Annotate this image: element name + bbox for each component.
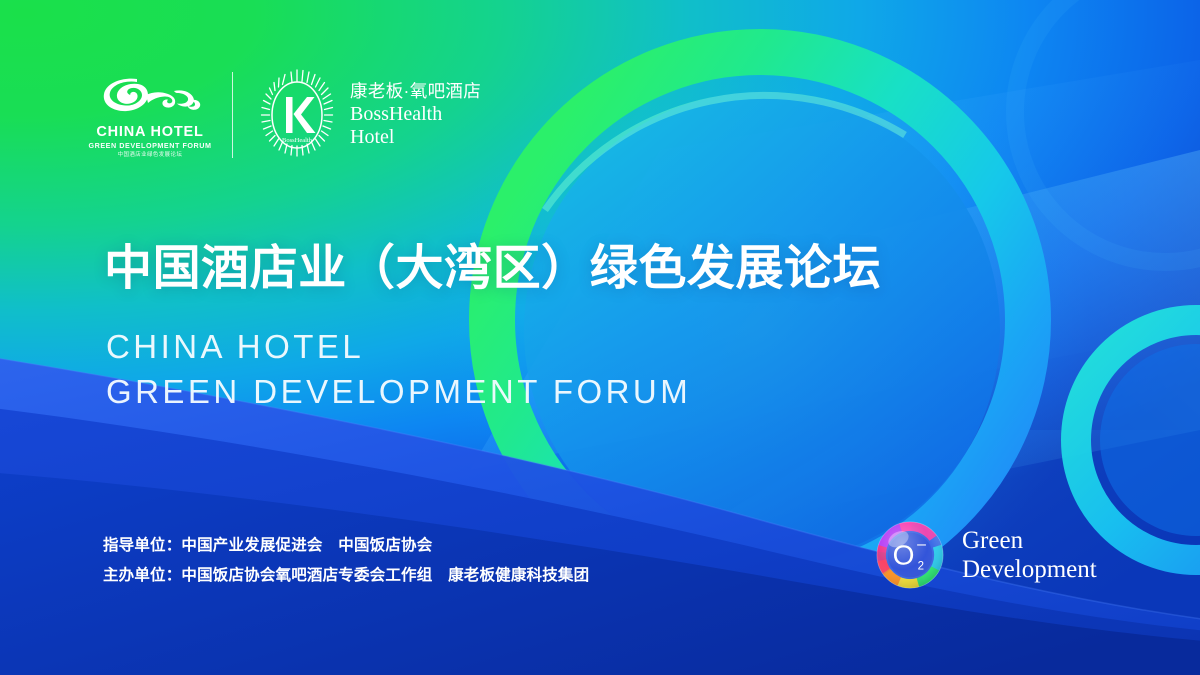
o2-symbol-subscript: 2 bbox=[918, 560, 924, 572]
page-title: 中国酒店业（大湾区）绿色发展论坛 bbox=[104, 243, 881, 295]
china-hotel-en-subtitle: GREEN DEVELOPMENT FORUM bbox=[88, 142, 211, 149]
logo-china-hotel[interactable]: CHINA HOTEL GREEN DEVELOPMENT FORUM 中国酒店… bbox=[96, 72, 204, 159]
page-subtitle-line-1: CHINA HOTEL bbox=[106, 325, 691, 370]
logo-boss-health[interactable]: BossHealth 康老板·氧吧酒店 BossHealth Hotel bbox=[257, 66, 481, 164]
green-development-label-line-2: Development bbox=[962, 555, 1097, 585]
o2-symbol-superscript: – bbox=[917, 536, 926, 553]
logo-divider bbox=[232, 72, 233, 158]
boss-health-en-name-1: BossHealth bbox=[350, 103, 481, 125]
page-subtitle-line-2: GREEN DEVELOPMENT FORUM bbox=[106, 370, 691, 415]
boss-health-cn-name: 康老板·氧吧酒店 bbox=[350, 81, 481, 102]
sunburst-k-monogram-icon: BossHealth bbox=[257, 66, 337, 164]
credits-block: 指导单位：中国产业发展促进会 中国饭店协会 主办单位：中国饭店协会氧吧酒店专委会… bbox=[103, 531, 589, 591]
poster-canvas: CHINA HOTEL GREEN DEVELOPMENT FORUM 中国酒店… bbox=[0, 0, 1200, 675]
ribbon-bed-mark-icon bbox=[98, 72, 202, 122]
green-development-label-line-1: Green bbox=[962, 526, 1097, 556]
o2-symbol-main: O bbox=[893, 539, 915, 570]
logo-row: CHINA HOTEL GREEN DEVELOPMENT FORUM 中国酒店… bbox=[96, 66, 481, 164]
china-hotel-en-name: CHINA HOTEL bbox=[96, 125, 203, 140]
boss-mark-caption: BossHealth bbox=[282, 137, 313, 144]
credit-line-guidance: 指导单位：中国产业发展促进会 中国饭店协会 bbox=[103, 531, 589, 561]
credit-line-organizer: 主办单位：中国饭店协会氧吧酒店专委会工作组 康老板健康科技集团 bbox=[103, 561, 589, 591]
page-subtitle: CHINA HOTEL GREEN DEVELOPMENT FORUM bbox=[106, 325, 691, 415]
green-development-label: Green Development bbox=[962, 526, 1097, 585]
boss-health-en-name-2: Hotel bbox=[350, 126, 481, 148]
boss-health-text: 康老板·氧吧酒店 BossHealth Hotel bbox=[350, 81, 481, 148]
iridescent-o2-bubble-icon: O – 2 bbox=[874, 519, 946, 591]
china-hotel-cn-subtitle: 中国酒店业绿色发展论坛 bbox=[118, 153, 183, 158]
green-development-badge: O – 2 Green Development bbox=[874, 519, 1097, 591]
